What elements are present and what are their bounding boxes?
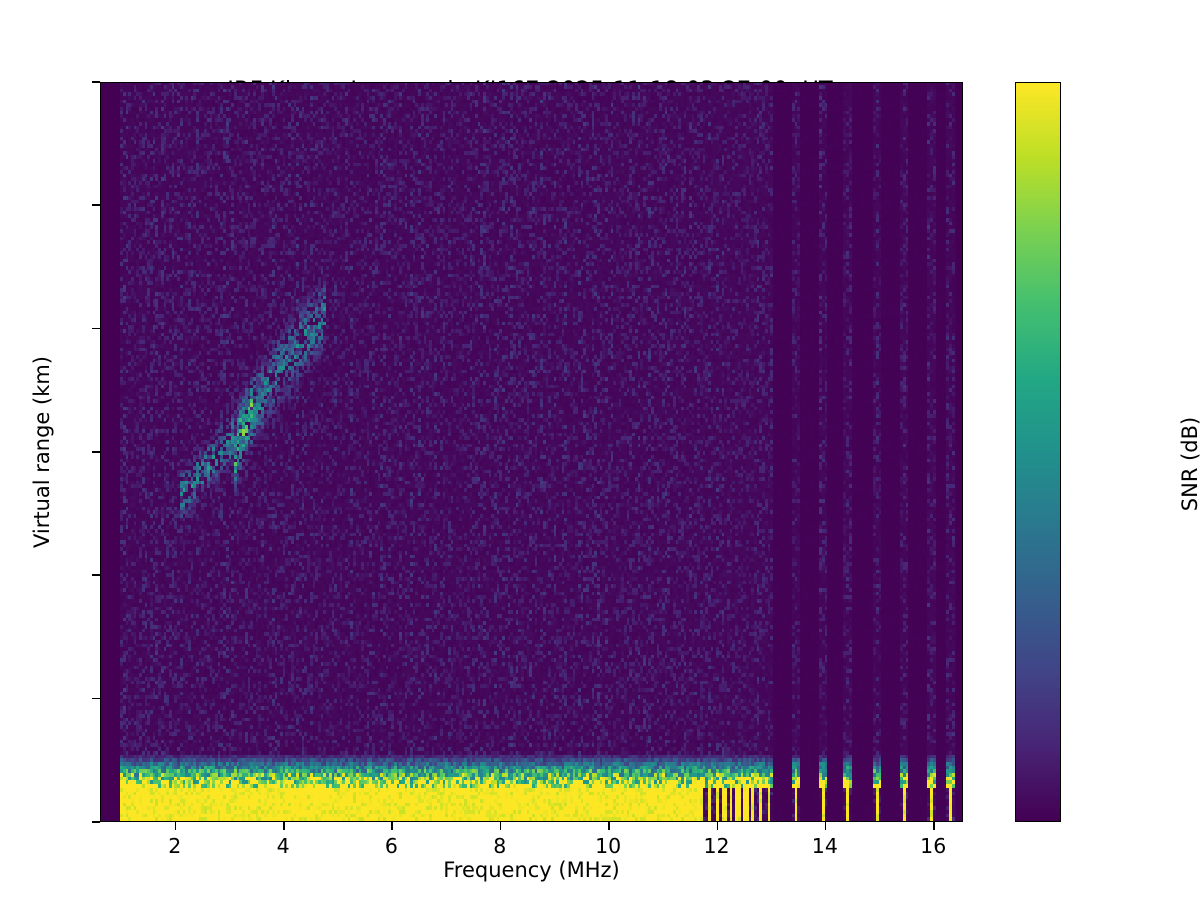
ionogram-heatmap-canvas[interactable] (101, 83, 963, 822)
x-tick-label: 16 (893, 833, 973, 859)
x-tick-label: 6 (351, 833, 431, 859)
x-tick-mark (933, 822, 935, 830)
x-tick-label: 14 (785, 833, 865, 859)
x-tick-mark (608, 822, 610, 830)
x-tick-label: 12 (677, 833, 757, 859)
colorbar-gradient (1015, 82, 1061, 822)
colorbar-canvas (1016, 83, 1060, 821)
x-tick-mark (500, 822, 502, 830)
colorbar[interactable] (1015, 82, 1061, 822)
y-tick-mark (92, 328, 100, 330)
ionogram-plot-area[interactable] (100, 82, 963, 822)
x-tick-label: 2 (135, 833, 215, 859)
y-tick-mark (92, 451, 100, 453)
x-tick-mark (283, 822, 285, 830)
y-axis-label: Virtual range (km) (30, 142, 54, 762)
x-tick-mark (175, 822, 177, 830)
y-tick-mark (92, 698, 100, 700)
x-axis-label: Frequency (MHz) (100, 858, 963, 882)
y-tick-mark (92, 574, 100, 576)
x-tick-mark (717, 822, 719, 830)
x-tick-label: 4 (243, 833, 323, 859)
y-tick-mark (92, 821, 100, 823)
colorbar-label: SNR (dB) (1178, 334, 1200, 594)
ionogram-figure: IRF Kiruna Ionosonde KI167 2025-11-18 03… (0, 0, 1200, 900)
x-tick-label: 10 (568, 833, 648, 859)
x-tick-mark (825, 822, 827, 830)
x-tick-label: 8 (460, 833, 540, 859)
x-tick-mark (391, 822, 393, 830)
